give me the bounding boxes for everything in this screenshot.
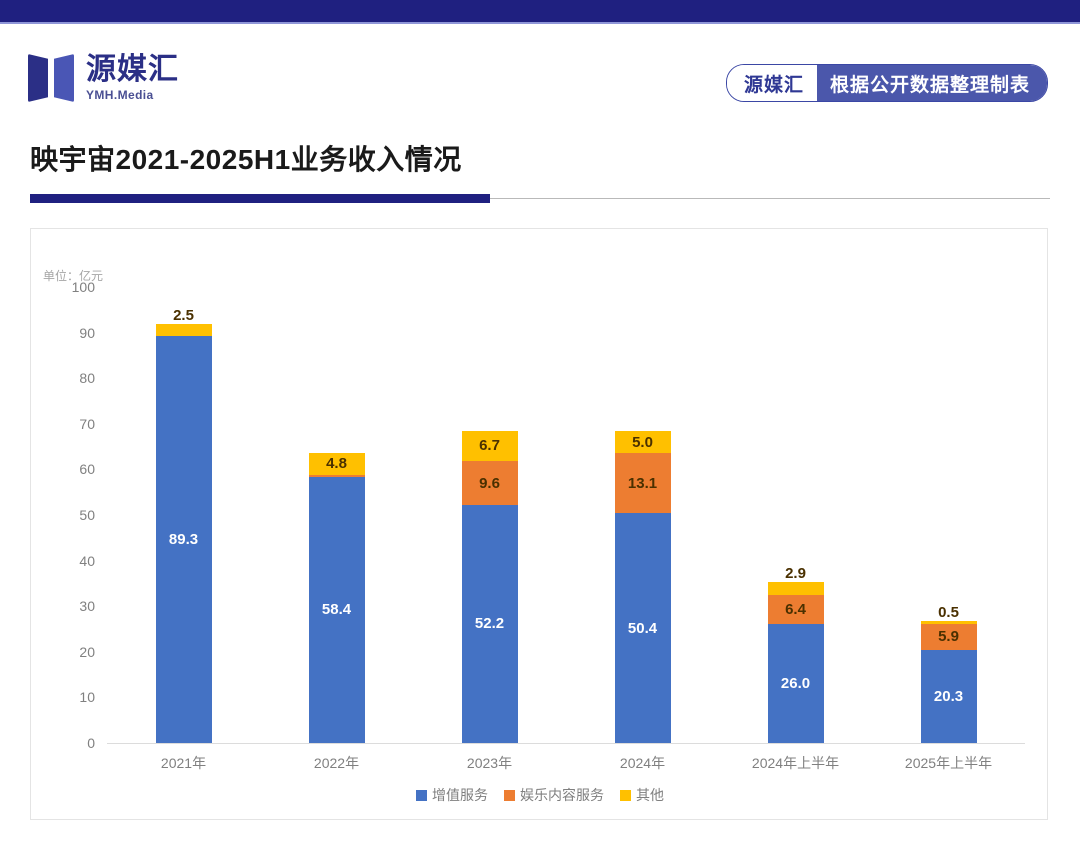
y-axis-tick: 30 bbox=[79, 598, 95, 614]
credit-badge-note: 根据公开数据整理制表 bbox=[817, 65, 1047, 101]
brand-name-en: YMH.Media bbox=[86, 88, 179, 102]
legend-swatch-icon bbox=[620, 790, 631, 801]
x-axis-baseline bbox=[107, 743, 1025, 744]
x-axis-labels: 2021年2022年2023年2024年2024年上半年2025年上半年 bbox=[107, 753, 1025, 773]
bar-value-label: 52.2 bbox=[475, 616, 504, 631]
legend-item[interactable]: 增值服务 bbox=[416, 785, 488, 805]
legend-label: 增值服务 bbox=[432, 785, 488, 805]
stacked-bar[interactable]: 26.06.42.9 bbox=[768, 582, 824, 743]
bar-value-label: 58.4 bbox=[322, 602, 351, 617]
x-axis-label: 2025年上半年 bbox=[872, 753, 1025, 773]
bar-segment[interactable]: 5.0 bbox=[615, 431, 671, 454]
chart-plot-area: 1009080706050403020100 89.32.558.40.44.8… bbox=[63, 287, 1025, 743]
bar-group: 58.40.44.8 bbox=[260, 287, 413, 743]
bar-value-label: 9.6 bbox=[479, 476, 500, 491]
credit-badge-source: 源媒汇 bbox=[727, 65, 817, 101]
ymh-logo-mark-icon bbox=[28, 52, 75, 104]
top-accent-bar bbox=[0, 0, 1080, 22]
y-axis-tick: 40 bbox=[79, 553, 95, 569]
bar-segment[interactable]: 13.1 bbox=[615, 453, 671, 513]
y-axis-tick: 50 bbox=[79, 507, 95, 523]
bar-segment[interactable]: 2.9 bbox=[768, 582, 824, 595]
x-axis-label: 2024年 bbox=[566, 753, 719, 773]
y-axis-tick: 80 bbox=[79, 370, 95, 386]
x-axis-label: 2024年上半年 bbox=[719, 753, 872, 773]
stacked-bar[interactable]: 89.32.5 bbox=[156, 324, 212, 743]
bar-segment[interactable]: 6.7 bbox=[462, 431, 518, 462]
bar-value-label: 5.0 bbox=[632, 435, 653, 450]
y-axis-tick: 100 bbox=[72, 279, 95, 295]
bar-value-label: 0.5 bbox=[938, 605, 959, 620]
page-title: 映宇宙2021-2025H1业务收入情况 bbox=[30, 138, 462, 178]
bar-value-label: 2.9 bbox=[785, 566, 806, 581]
x-axis-label: 2023年 bbox=[413, 753, 566, 773]
bar-group: 89.32.5 bbox=[107, 287, 260, 743]
legend-item[interactable]: 娱乐内容服务 bbox=[504, 785, 604, 805]
bar-segment[interactable]: 6.4 bbox=[768, 595, 824, 624]
bar-segment[interactable]: 9.6 bbox=[462, 461, 518, 505]
y-axis-tick: 0 bbox=[87, 735, 95, 751]
bar-value-label: 6.4 bbox=[785, 602, 806, 617]
x-axis-label: 2021年 bbox=[107, 753, 260, 773]
stacked-bar[interactable]: 20.35.90.5 bbox=[921, 621, 977, 743]
legend-label: 其他 bbox=[636, 785, 664, 805]
bar-group: 52.29.66.7 bbox=[413, 287, 566, 743]
y-axis-tick: 10 bbox=[79, 689, 95, 705]
legend-swatch-icon bbox=[416, 790, 427, 801]
y-axis-tick: 20 bbox=[79, 644, 95, 660]
bar-segment[interactable]: 20.3 bbox=[921, 650, 977, 743]
chart-panel: 单位：亿元 1009080706050403020100 89.32.558.4… bbox=[30, 228, 1048, 820]
chart-legend: 增值服务娱乐内容服务其他 bbox=[31, 785, 1049, 805]
bar-segment[interactable]: 5.9 bbox=[921, 624, 977, 651]
bar-value-label: 6.7 bbox=[479, 438, 500, 453]
brand-name-cn: 源媒汇 bbox=[86, 54, 179, 86]
bar-value-label: 20.3 bbox=[934, 689, 963, 704]
bar-value-label: 13.1 bbox=[628, 476, 657, 491]
bar-value-label: 2.5 bbox=[173, 308, 194, 323]
x-axis-label: 2022年 bbox=[260, 753, 413, 773]
brand-logo-text: 源媒汇 YMH.Media bbox=[86, 54, 179, 103]
stacked-bar[interactable]: 58.40.44.8 bbox=[309, 453, 365, 743]
bar-segment[interactable]: 26.0 bbox=[768, 624, 824, 743]
legend-swatch-icon bbox=[504, 790, 515, 801]
y-axis: 1009080706050403020100 bbox=[63, 287, 101, 743]
bar-segment[interactable]: 0.5 bbox=[921, 621, 977, 623]
y-axis-tick: 70 bbox=[79, 416, 95, 432]
bar-value-label: 5.9 bbox=[938, 629, 959, 644]
bar-segment[interactable]: 58.4 bbox=[309, 477, 365, 743]
credit-badge: 源媒汇 根据公开数据整理制表 bbox=[726, 64, 1048, 102]
page-header: 源媒汇 YMH.Media 源媒汇 根据公开数据整理制表 bbox=[0, 24, 1080, 132]
bar-segment[interactable]: 0.4 bbox=[309, 475, 365, 477]
bar-segment[interactable]: 2.5 bbox=[156, 324, 212, 335]
bar-series-container: 89.32.558.40.44.852.29.66.750.413.15.026… bbox=[107, 287, 1025, 743]
bar-segment[interactable]: 52.2 bbox=[462, 505, 518, 743]
bar-value-label: 89.3 bbox=[169, 532, 198, 547]
bar-group: 20.35.90.5 bbox=[872, 287, 1025, 743]
bar-group: 26.06.42.9 bbox=[719, 287, 872, 743]
stacked-bar[interactable]: 50.413.15.0 bbox=[615, 431, 671, 743]
title-divider-accent bbox=[30, 194, 490, 203]
y-axis-tick: 60 bbox=[79, 461, 95, 477]
y-axis-tick: 90 bbox=[79, 325, 95, 341]
bar-value-label: 50.4 bbox=[628, 621, 657, 636]
legend-label: 娱乐内容服务 bbox=[520, 785, 604, 805]
legend-item[interactable]: 其他 bbox=[620, 785, 664, 805]
brand-logo: 源媒汇 YMH.Media bbox=[28, 52, 179, 104]
bar-segment[interactable]: 89.3 bbox=[156, 336, 212, 743]
bar-segment[interactable]: 4.8 bbox=[309, 453, 365, 475]
bar-value-label: 26.0 bbox=[781, 676, 810, 691]
stacked-bar[interactable]: 52.29.66.7 bbox=[462, 431, 518, 743]
bar-group: 50.413.15.0 bbox=[566, 287, 719, 743]
bar-value-label: 4.8 bbox=[326, 456, 347, 471]
bar-segment[interactable]: 50.4 bbox=[615, 513, 671, 743]
